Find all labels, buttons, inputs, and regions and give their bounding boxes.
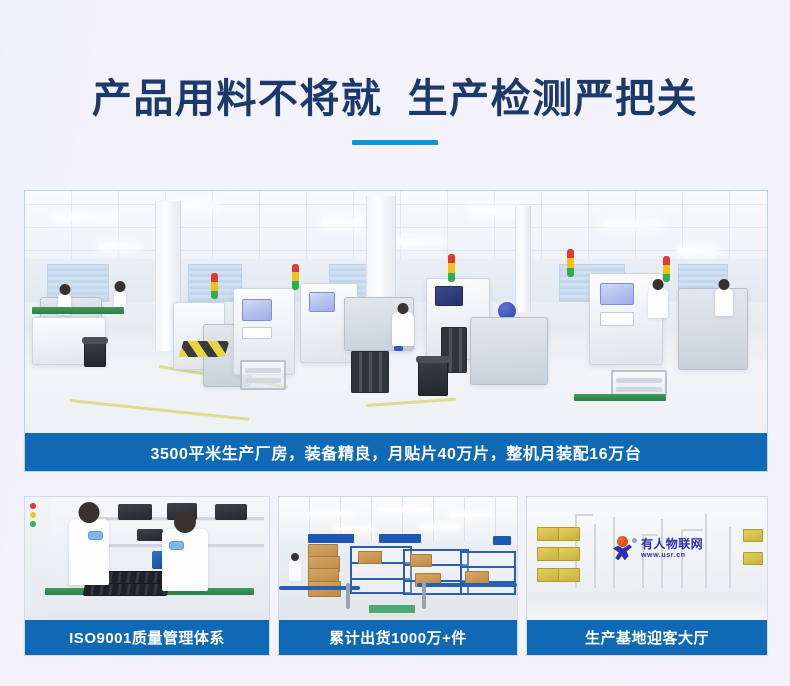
ceiling-light xyxy=(422,525,460,528)
qc-worker xyxy=(69,519,109,585)
ceiling-light xyxy=(470,208,518,213)
carton xyxy=(358,551,382,564)
material-cart xyxy=(611,370,667,396)
carton xyxy=(410,554,432,567)
storage-box xyxy=(215,504,247,520)
lobby-floor xyxy=(527,593,767,620)
card-shipment[interactable]: 累计出货1000万+件 xyxy=(278,496,518,656)
andon-light xyxy=(567,249,574,277)
indicator-light xyxy=(30,512,36,518)
card-shipment-caption: 累计出货1000万+件 xyxy=(279,620,517,655)
machine xyxy=(678,288,748,370)
control-panel xyxy=(600,312,634,326)
card-iso9001[interactable]: ISO9001质量管理体系 xyxy=(24,496,270,656)
card-lobby-caption: 生产基地迎客大厅 xyxy=(527,620,767,655)
ceiling-light xyxy=(336,527,372,530)
pcb-magazine-rack xyxy=(351,351,389,393)
card-iso9001-caption: ISO9001质量管理体系 xyxy=(25,620,269,655)
award-plaque xyxy=(537,568,559,582)
page-header: 产品用料不将就 生产检测严把关 xyxy=(0,0,790,145)
wall-circuit-line xyxy=(594,524,596,588)
andon-light xyxy=(292,264,299,290)
machine-screen xyxy=(309,292,335,312)
storage-box xyxy=(118,504,152,520)
promo-page: 产品用料不将就 生产检测严把关 xyxy=(0,0,790,686)
hero-caption: 3500平米生产厂房，装备精良，月贴片40万片，整机月装配16万台 xyxy=(25,433,767,471)
face-mask xyxy=(169,541,184,550)
card-iso9001-photo xyxy=(25,497,269,620)
floor-marking xyxy=(369,605,415,613)
andon-light xyxy=(211,273,218,299)
ceiling-light xyxy=(99,244,139,249)
title-divider xyxy=(352,140,438,145)
control-panel xyxy=(242,327,272,339)
ceiling-light xyxy=(379,508,429,511)
wall-circuit-line xyxy=(705,514,707,588)
hazard-tape xyxy=(178,341,229,357)
ceiling-light xyxy=(450,513,490,516)
worker xyxy=(715,288,733,316)
award-plaque xyxy=(558,527,580,541)
title-divider-wrap xyxy=(0,140,790,145)
ceiling-light xyxy=(308,512,352,515)
material-cart xyxy=(240,360,286,390)
qc-worker xyxy=(162,529,208,591)
worker xyxy=(648,288,668,318)
award-plaque xyxy=(558,568,580,582)
aisle-sign xyxy=(493,536,511,545)
machine-screen xyxy=(242,299,272,321)
ceiling-light xyxy=(604,222,660,227)
logo-name-cn: 有人物联网 xyxy=(641,538,703,550)
face-mask xyxy=(88,531,103,540)
andon-light xyxy=(448,254,455,282)
award-plaque xyxy=(743,529,763,542)
waste-bin xyxy=(418,360,448,396)
machine-screen xyxy=(600,283,634,305)
award-plaque xyxy=(537,527,559,541)
window-blind xyxy=(47,264,109,302)
award-plaque xyxy=(743,552,763,565)
aisle-sign xyxy=(379,534,421,543)
company-logo: 有人物联网 www.usr.cn xyxy=(611,536,703,560)
pillar xyxy=(515,206,531,312)
queue-barrier xyxy=(417,583,517,587)
machine-screen xyxy=(435,286,463,306)
barrier-post xyxy=(346,583,350,609)
hero-photo xyxy=(25,191,767,433)
reflow-oven xyxy=(470,317,548,385)
ceiling-light xyxy=(55,215,113,220)
andon-light xyxy=(663,256,670,282)
equipment-strip xyxy=(25,497,49,620)
award-plaque xyxy=(537,547,559,561)
indicator-light xyxy=(30,503,36,509)
logo-text: 有人物联网 www.usr.cn xyxy=(641,538,703,559)
machine xyxy=(589,273,663,365)
card-lobby[interactable]: 有人物联网 www.usr.cn 生产基地迎客大厅 xyxy=(526,496,768,656)
card-lobby-photo: 有人物联网 www.usr.cn xyxy=(527,497,767,620)
assembly-bench xyxy=(32,307,124,314)
logo-url: www.usr.cn xyxy=(641,552,703,559)
warehouse-worker xyxy=(289,559,301,581)
wall-circuit-line xyxy=(681,529,703,531)
wall-circuit-line xyxy=(729,527,731,589)
ceiling-light xyxy=(396,239,442,244)
waste-bin xyxy=(84,341,106,367)
worker xyxy=(392,312,414,346)
page-title: 产品用料不将就 生产检测严把关 xyxy=(0,78,790,120)
indicator-light xyxy=(30,521,36,527)
aisle-sign xyxy=(308,534,354,543)
feature-card-row: ISO9001质量管理体系 xyxy=(24,496,768,656)
barrier-post xyxy=(422,581,426,609)
component-tray xyxy=(82,583,168,596)
storage-box xyxy=(137,529,163,541)
usr-mascot-icon xyxy=(611,536,637,560)
hero-block: 3500平米生产厂房，装备精良，月贴片40万片，整机月装配16万台 xyxy=(24,190,768,472)
award-plaque xyxy=(558,547,580,561)
wall-circuit-line xyxy=(575,514,593,516)
assembly-bench xyxy=(574,394,666,401)
ceiling-light xyxy=(678,249,716,254)
card-shipment-photo xyxy=(279,497,517,620)
